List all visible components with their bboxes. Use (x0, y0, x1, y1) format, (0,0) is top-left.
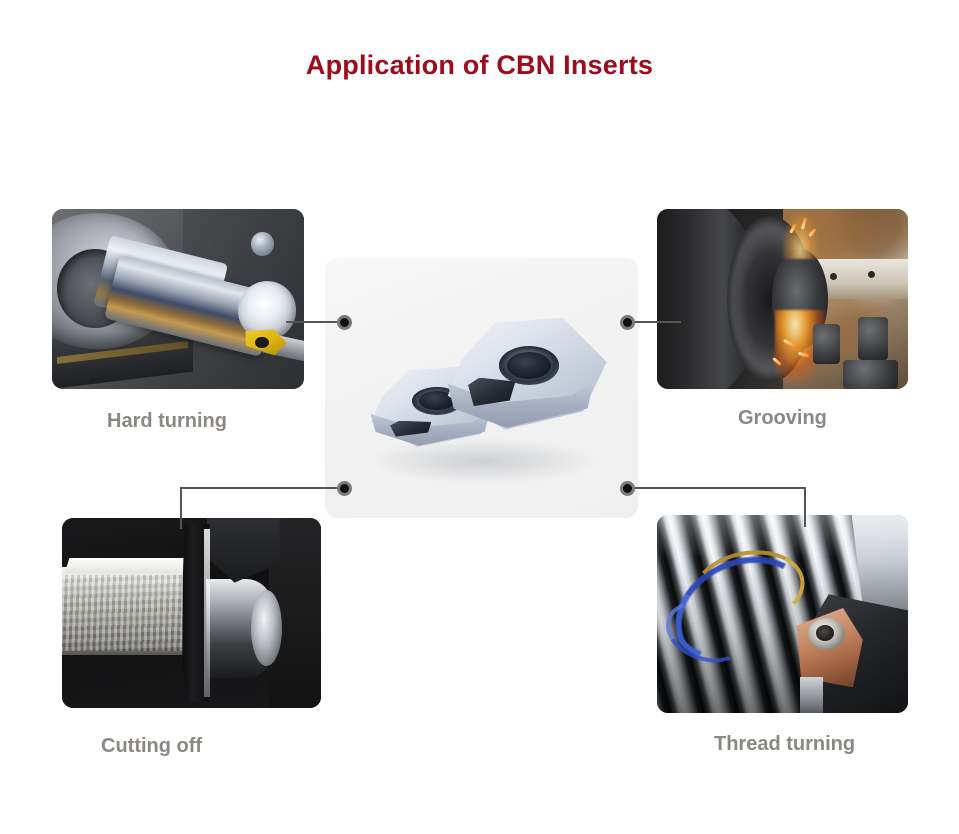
application-image-hard-turning[interactable] (52, 209, 304, 389)
workpiece-top-edge (65, 558, 194, 573)
insert-clamp-hole (816, 625, 834, 641)
cbn-insert-front (438, 315, 607, 445)
application-label-grooving: Grooving (738, 407, 827, 430)
insert-stage (325, 258, 638, 518)
application-label-hard-turning: Hard turning (107, 410, 227, 433)
application-label-thread-turning: Thread turning (714, 733, 855, 756)
machine-knob (858, 317, 888, 360)
cbn-inserts-panel[interactable] (325, 258, 638, 518)
machine-knob (813, 324, 841, 364)
page-title: Application of CBN Inserts (0, 50, 959, 81)
machine-body (843, 360, 898, 389)
plate-hole (830, 273, 837, 280)
insert-clamp-hole (507, 352, 551, 379)
cutting-off-photo (62, 518, 321, 708)
application-image-thread-turning[interactable] (657, 515, 908, 713)
hard-turning-photo (52, 209, 304, 389)
workpiece-end-face (251, 590, 282, 666)
application-image-cutting-off[interactable] (62, 518, 321, 708)
plate-hole (868, 271, 875, 278)
grooving-photo (657, 209, 908, 389)
blade-cutting-edge (204, 529, 210, 696)
tool-shank (800, 677, 823, 713)
application-label-cutting-off: Cutting off (101, 735, 202, 758)
infographic-page: Application of CBN Inserts Hard turning (0, 0, 959, 834)
application-image-grooving[interactable] (657, 209, 908, 389)
machine-bolt (251, 232, 274, 255)
thread-turning-photo (657, 515, 908, 713)
connector-line (180, 487, 344, 489)
cbn-insert-tip (255, 337, 269, 349)
connector-line (628, 487, 806, 489)
workpiece-surface-texture (62, 575, 197, 651)
spark-plume-top (783, 213, 818, 260)
